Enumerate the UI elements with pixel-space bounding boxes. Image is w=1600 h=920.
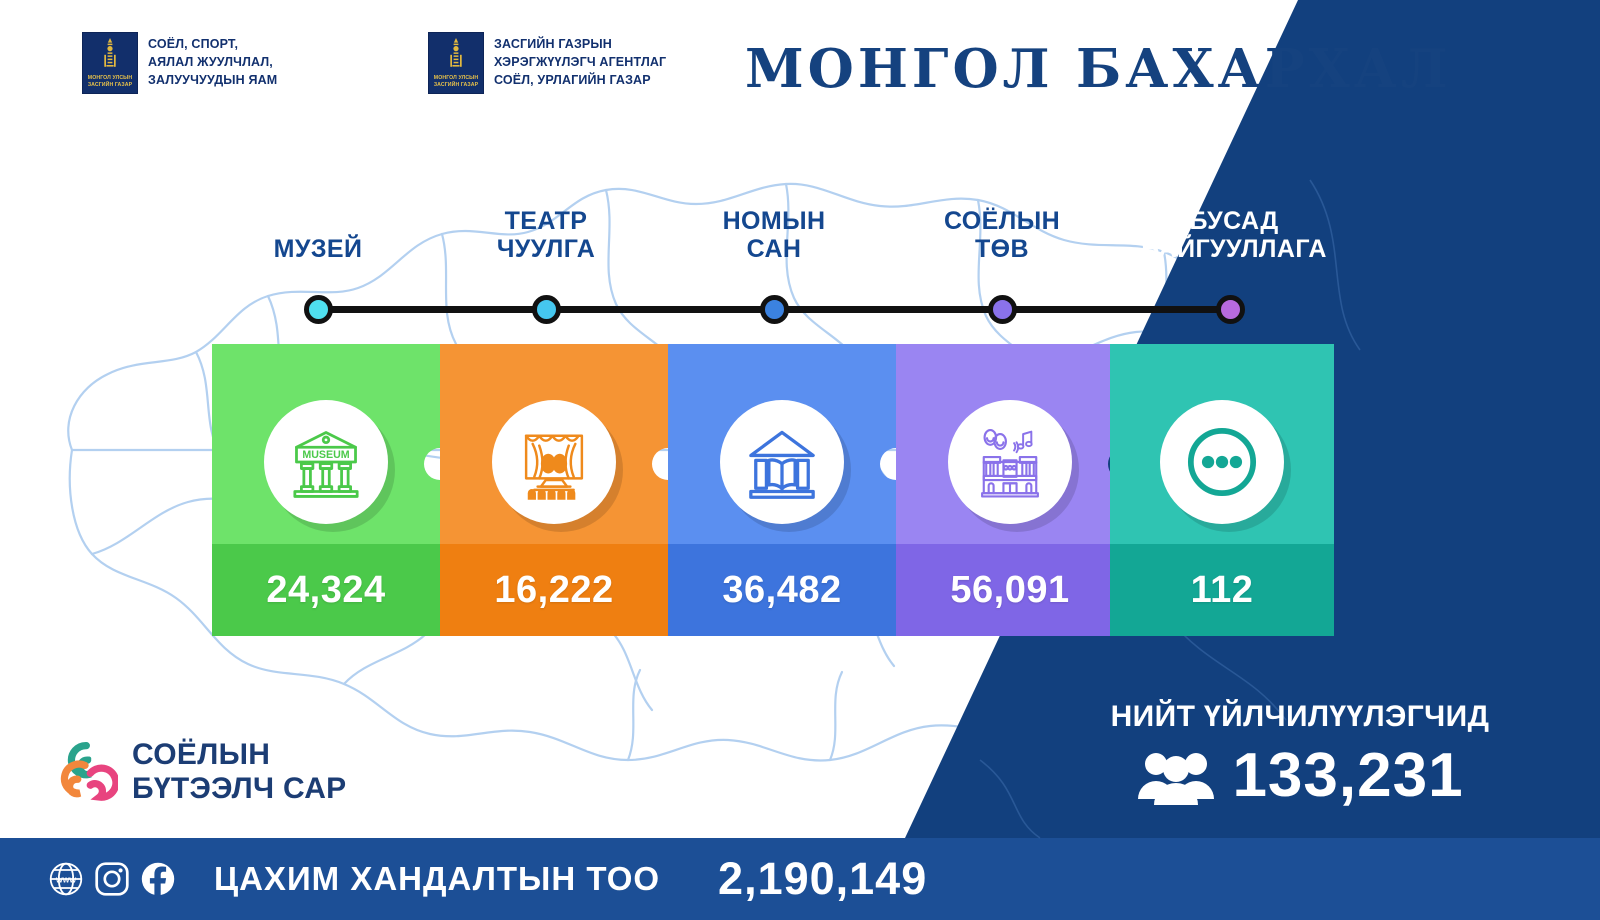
card-value: 56,091 [950,569,1069,612]
category-label-other: БУСАД БАЙГУУЛЛАГА [1094,208,1374,263]
timeline-dot-other[interactable] [1216,295,1245,324]
card-value: 24,324 [266,569,385,612]
timeline-dot-theater[interactable] [532,295,561,324]
category-label-culture-center: СОЁЛЫН ТӨВ [902,208,1102,263]
card-icon-disc [1160,400,1284,524]
card-value-band: 56,091 [896,544,1124,636]
page-title: МОНГОЛ БАХАРХАЛ [745,38,1305,100]
agency-name-label: ЗАСГИЙН ГАЗРЫН ХЭРЭГЖҮҮЛЭГЧ АГЕНТЛАГ СОЁ… [494,36,666,89]
category-label-library: НОМЫН САН [674,208,874,263]
ministry-name-label: СОЁЛ, СПОРТ, АЯЛАЛ ЖУУЛЧЛАЛ, ЗАЛУУЧУУДЫН… [148,36,277,89]
stat-card-other[interactable]: 112 [1110,344,1334,636]
card-icon-disc [720,400,844,524]
stat-card-museum[interactable]: MUSEUM 24,324 [212,344,440,636]
creative-month-brand: СОЁЛЫН БҮТЭЭЛЧ САР [52,738,346,805]
soyombo-icon [102,38,118,74]
card-value-band: 24,324 [212,544,440,636]
card-value-band: 36,482 [668,544,896,636]
mongolia-state-emblem: МОНГОЛ УЛСЫН ЗАСГИЙН ГАЗАР [82,32,138,94]
people-group-icon [1136,747,1216,805]
timeline-dot-culture-center[interactable] [988,295,1017,324]
card-value-band: 112 [1110,544,1334,636]
bottom-bar: WWW ЦАХИМ ХАНДАЛТЫН ТОО 2,190,149 [0,838,1600,920]
stat-card-culture-center[interactable]: 56,091 [896,344,1124,636]
museum-icon: MUSEUM [285,421,367,503]
card-value-band: 16,222 [440,544,668,636]
soyombo-icon [448,38,464,74]
digital-visits-label: ЦАХИМ ХАНДАЛТЫН ТОО [214,860,660,898]
timeline-dot-library[interactable] [760,295,789,324]
creative-month-spiral-logo [52,739,118,805]
ellipsis-circle-icon [1181,421,1263,503]
card-value: 16,222 [494,569,613,612]
total-visitors-label: НИЙТ ҮЙЛЧИЛҮҮЛЭГЧИД [1060,700,1540,734]
mongolia-state-emblem: МОНГОЛ УЛСЫН ЗАСГИЙН ГАЗАР [428,32,484,94]
instagram-icon[interactable] [94,861,130,897]
card-value: 36,482 [722,569,841,612]
culture-center-icon [969,421,1051,503]
card-icon-disc: MUSEUM [264,400,388,524]
total-visitors-block: НИЙТ ҮЙЛЧИЛҮҮЛЭГЧИД 133,231 [1060,700,1540,811]
svg-text:MUSEUM: MUSEUM [302,449,349,461]
card-icon-disc [492,400,616,524]
social-icons: WWW [48,861,176,897]
card-value: 112 [1191,569,1254,612]
timeline-dot-museum[interactable] [304,295,333,324]
emblem-caption: МОНГОЛ УЛСЫН ЗАСГИЙН ГАЗАР [83,75,137,90]
ministry-logo-culture-sport-tourism-youth: МОНГОЛ УЛСЫН ЗАСГИЙН ГАЗАР СОЁЛ, СПОРТ, … [82,32,277,94]
stat-card-theater[interactable]: 16,222 [440,344,668,636]
svg-text:WWW: WWW [56,876,77,885]
library-book-icon [741,421,823,503]
facebook-icon[interactable] [140,861,176,897]
total-visitors-value: 133,231 [1232,740,1463,811]
statistics-card-row: MUSEUM 24,324 [0,344,1600,636]
category-label-theater: ТЕАТР ЧУУЛГА [446,208,646,263]
category-label-museum: МУЗЕЙ [218,236,418,264]
website-globe-icon[interactable]: WWW [48,861,84,897]
creative-month-label: СОЁЛЫН БҮТЭЭЛЧ САР [132,738,346,805]
agency-logo-culture-arts: МОНГОЛ УЛСЫН ЗАСГИЙН ГАЗАР ЗАСГИЙН ГАЗРЫ… [428,32,666,94]
infographic-canvas: МОНГОЛ УЛСЫН ЗАСГИЙН ГАЗАР СОЁЛ, СПОРТ, … [0,0,1600,920]
card-icon-disc [948,400,1072,524]
emblem-caption: МОНГОЛ УЛСЫН ЗАСГИЙН ГАЗАР [429,75,483,90]
digital-visits-value: 2,190,149 [718,853,927,905]
stat-card-library[interactable]: 36,482 [668,344,896,636]
header: МОНГОЛ УЛСЫН ЗАСГИЙН ГАЗАР СОЁЛ, СПОРТ, … [0,0,1600,120]
theater-stage-icon [513,421,595,503]
